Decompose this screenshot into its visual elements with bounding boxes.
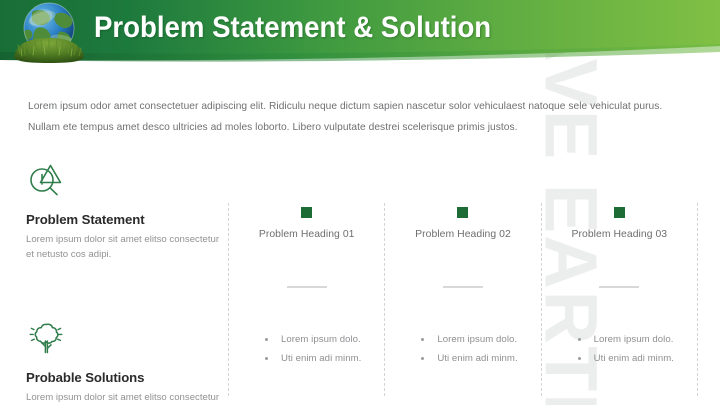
feature-problem-statement: Problem Statement Lorem ipsum dolor sit …: [26, 160, 222, 262]
list-item: Lorem ipsum dolo.: [576, 330, 697, 349]
column-title: Problem Heading 02: [415, 228, 511, 242]
problem-columns: Problem Heading 01 Lorem ipsum dolo. Uti…: [228, 203, 698, 396]
column-bullet-list: Lorem ipsum dolo. Uti enim adi minm.: [385, 330, 540, 368]
feature-probable-solutions: Probable Solutions Lorem ipsum dolor sit…: [26, 318, 222, 405]
header-banner: Problem Statement & Solution: [0, 0, 720, 68]
feature-description: Lorem ipsum dolor sit amet elitso consec…: [26, 232, 222, 262]
list-item: Uti enim adi minm.: [263, 349, 384, 368]
sparkling-tree-icon: [26, 318, 66, 358]
column-divider: [443, 286, 483, 288]
list-item: Uti enim adi minm.: [576, 349, 697, 368]
earth-globe-icon: [4, 0, 96, 64]
column-title: Problem Heading 03: [572, 228, 668, 242]
green-square-marker: [301, 207, 312, 218]
list-item: Lorem ipsum dolo.: [419, 330, 540, 349]
column-divider: [287, 286, 327, 288]
feature-title: Problem Statement: [26, 211, 222, 229]
page-title: Problem Statement & Solution: [94, 11, 491, 45]
green-square-marker: [457, 207, 468, 218]
feature-title: Probable Solutions: [26, 369, 222, 387]
column-bullet-list: Lorem ipsum dolo. Uti enim adi minm.: [229, 330, 384, 368]
list-item: Uti enim adi minm.: [419, 349, 540, 368]
feature-description: Lorem ipsum dolor sit amet elitso consec…: [26, 390, 222, 405]
slide-canvas: SAVE EARTH: [0, 0, 720, 405]
intro-paragraph: Lorem ipsum odor amet consectetuer adipi…: [28, 96, 688, 138]
column-bullet-list: Lorem ipsum dolo. Uti enim adi minm.: [542, 330, 697, 368]
green-square-marker: [614, 207, 625, 218]
magnifier-warning-icon: [26, 160, 66, 200]
column-title: Problem Heading 01: [259, 228, 355, 242]
problem-column-2: Problem Heading 02 Lorem ipsum dolo. Uti…: [384, 203, 540, 396]
column-divider: [599, 286, 639, 288]
list-item: Lorem ipsum dolo.: [263, 330, 384, 349]
problem-column-1: Problem Heading 01 Lorem ipsum dolo. Uti…: [228, 203, 384, 396]
problem-column-3: Problem Heading 03 Lorem ipsum dolo. Uti…: [541, 203, 698, 396]
feature-list: Problem Statement Lorem ipsum dolor sit …: [26, 160, 222, 405]
